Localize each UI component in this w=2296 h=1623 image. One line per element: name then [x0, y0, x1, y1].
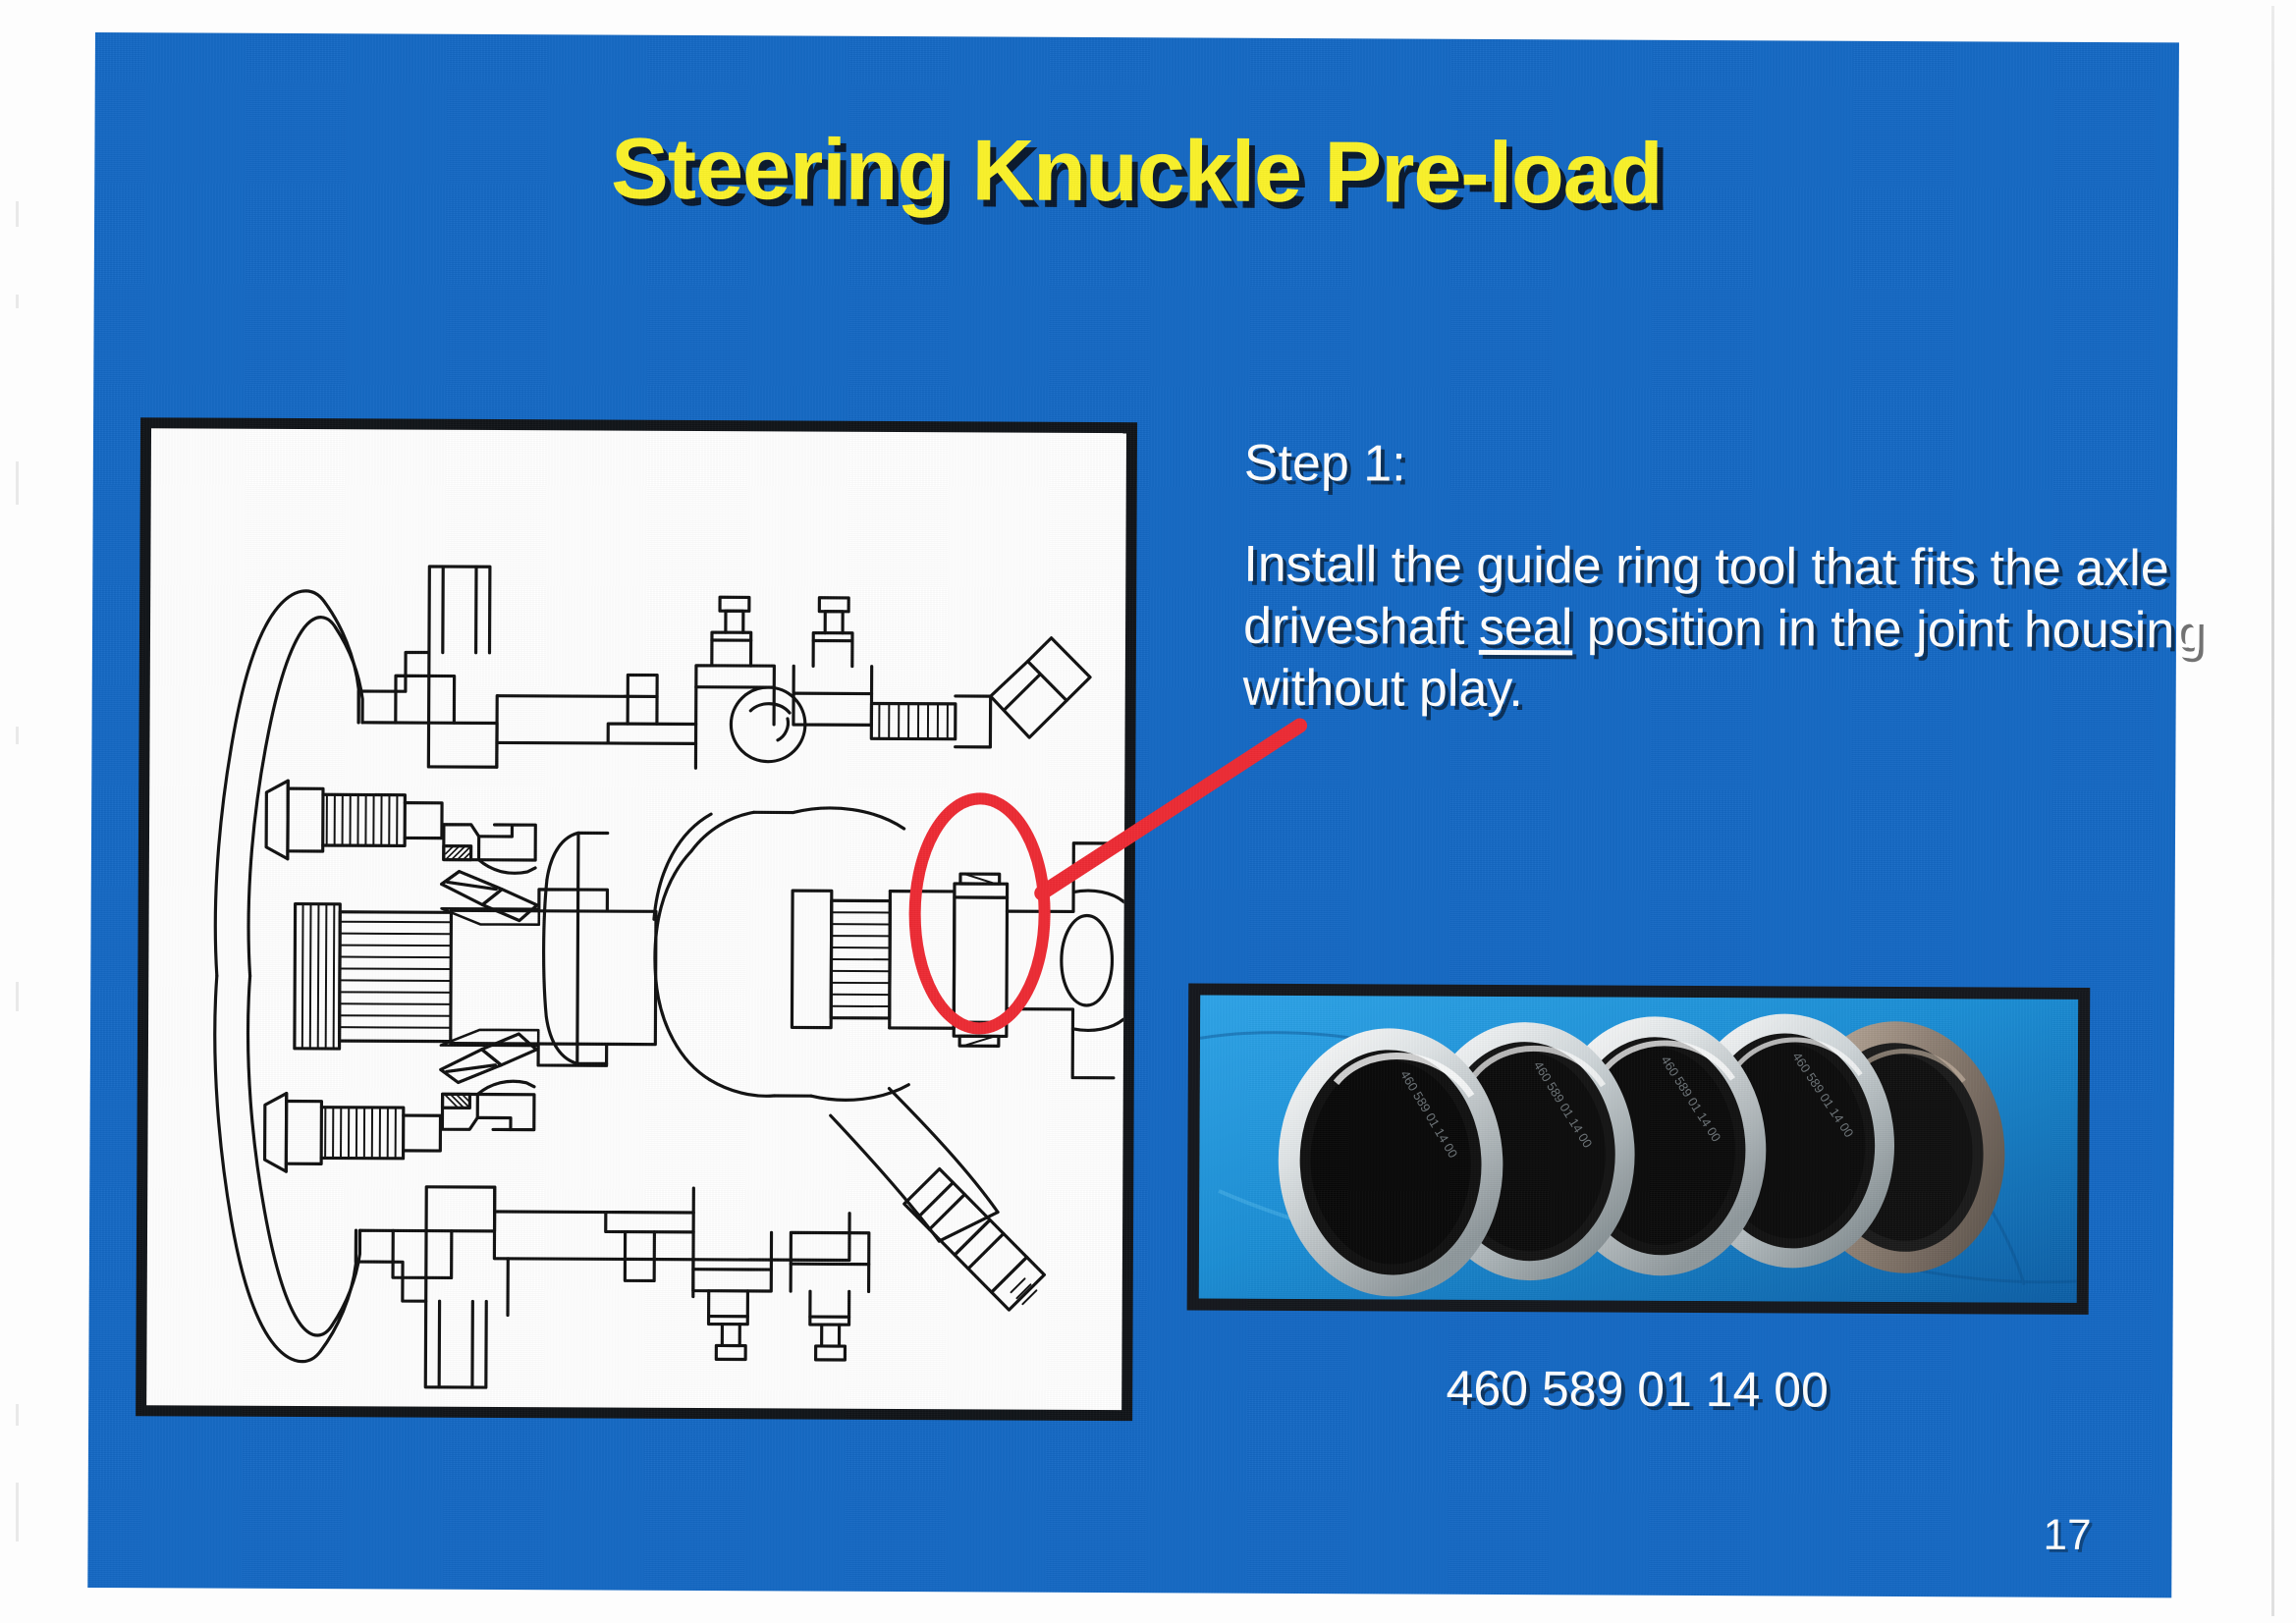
technical-drawing-canvas: [146, 428, 1126, 1410]
technical-drawing-panel: [136, 417, 1137, 1421]
scan-artifact-speck: [16, 727, 19, 744]
presentation-slide: Steering Knuckle Pre-load: [87, 32, 2179, 1597]
tool-photo-panel: 460 589 01 14 00 460 589 01 14 00 46: [1187, 983, 2091, 1314]
guide-ring: 460 589 01 14 00: [1284, 1035, 1498, 1291]
instruction-text-emphasis: seal: [1479, 599, 1573, 656]
scan-artifact-line: [2271, 6, 2274, 1616]
scan-artifact-speck: [16, 1404, 19, 1426]
scan-artifact-speck: [16, 1483, 19, 1542]
page-number: 17: [2043, 1511, 2091, 1560]
scan-artifact-speck: [16, 201, 19, 227]
instruction-body: Install the guide ring tool that fits th…: [1243, 534, 2207, 725]
part-number-label: 460 589 01 14 00: [1186, 1358, 2088, 1419]
step-label: Step 1:: [1244, 434, 1406, 494]
steering-knuckle-cross-section-diagram: [146, 428, 1126, 1410]
page-title: Steering Knuckle Pre-load: [94, 116, 2178, 226]
scan-artifact-speck: [16, 982, 19, 1011]
tool-photo: 460 589 01 14 00 460 589 01 14 00 46: [1199, 996, 2078, 1303]
scan-artifact-speck: [16, 295, 19, 308]
scan-artifact-speck: [16, 461, 19, 505]
guide-ring-set-photo: 460 589 01 14 00 460 589 01 14 00 46: [1199, 996, 2078, 1303]
